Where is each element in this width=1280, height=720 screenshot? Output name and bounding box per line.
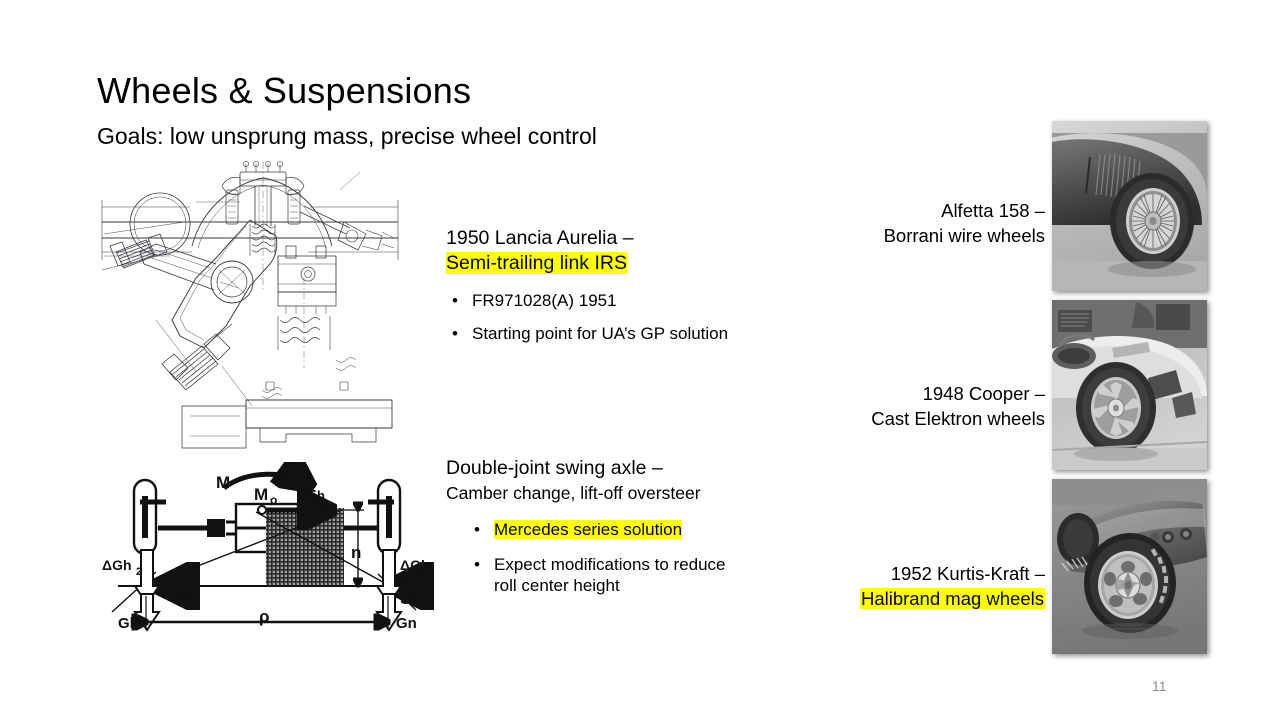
- swing-axle-force-diagram: M M o F h n ΔGh 2 ΔGh 2 S S Gh Gn ρ: [96, 462, 436, 650]
- caption-line-1: 1952 Kurtis-Kraft –: [891, 563, 1045, 584]
- block-subheading-swing-axle: Camber change, lift-off oversteer: [446, 481, 751, 505]
- photo-caption-cooper: 1948 Cooper – Cast Elektron wheels: [780, 381, 1045, 431]
- photo-alfetta-borrani-wire-wheel: [1052, 121, 1207, 291]
- page-subtitle: Goals: low unsprung mass, precise wheel …: [97, 122, 597, 150]
- svg-text:o: o: [270, 493, 277, 507]
- bullet-dot-icon: •: [452, 323, 458, 344]
- slide-canvas: Wheels & Suspensions Goals: low unsprung…: [0, 0, 1280, 720]
- photo-cooper-cast-elektron-wheel: [1052, 300, 1207, 470]
- svg-text:2: 2: [136, 566, 142, 578]
- bullet-dot-icon: •: [452, 290, 458, 311]
- svg-text:Gh: Gh: [118, 615, 139, 632]
- svg-text:ΔGh: ΔGh: [102, 557, 132, 573]
- svg-text:h: h: [317, 488, 325, 503]
- caption-line-1: 1948 Cooper –: [923, 383, 1045, 404]
- caption-line-2: Cast Elektron wheels: [871, 408, 1045, 429]
- bullet-dot-icon: •: [474, 519, 480, 540]
- heading-line-2-highlighted: Semi-trailing link IRS: [446, 252, 627, 274]
- page-title: Wheels & Suspensions: [97, 70, 471, 112]
- list-item-label: FR971028(A) 1951: [472, 291, 617, 310]
- heading-line-1: 1950 Lancia Aurelia –: [446, 227, 634, 249]
- svg-text:S: S: [178, 589, 189, 608]
- list-item-label-highlighted: Mercedes series solution: [494, 520, 682, 539]
- svg-text:S: S: [400, 589, 411, 608]
- list-item: • Mercedes series solution: [468, 519, 751, 540]
- svg-text:M: M: [216, 473, 230, 492]
- caption-line-2: Borrani wire wheels: [884, 225, 1045, 246]
- bullet-list-swing-axle: • Mercedes series solution • Expect modi…: [468, 519, 751, 596]
- caption-line-2-highlighted: Halibrand mag wheels: [860, 588, 1045, 609]
- bullet-list-lancia: • FR971028(A) 1951 • Starting point for …: [446, 290, 746, 344]
- photo-kurtis-halibrand-mag-wheel: [1052, 479, 1207, 654]
- svg-text:Gn: Gn: [396, 615, 417, 632]
- svg-text:ΔGh: ΔGh: [400, 557, 430, 573]
- svg-text:F: F: [306, 481, 316, 500]
- list-item: • Expect modifications to reduce roll ce…: [468, 554, 751, 596]
- svg-text:2: 2: [400, 573, 406, 585]
- irs-suspension-drawing: [100, 160, 400, 452]
- list-item-label: Starting point for UA’s GP solution: [472, 324, 728, 343]
- svg-text:M: M: [254, 485, 268, 504]
- slide-number: 11: [1152, 677, 1167, 695]
- bullet-dot-icon: •: [474, 554, 480, 575]
- block-heading-lancia: 1950 Lancia Aurelia – Semi-trailing link…: [446, 226, 746, 276]
- svg-text:ρ: ρ: [259, 607, 270, 626]
- block-heading-swing-axle: Double-joint swing axle –: [446, 456, 751, 481]
- content-block-swing-axle: Double-joint swing axle – Camber change,…: [446, 456, 751, 596]
- list-item: • FR971028(A) 1951: [446, 290, 746, 311]
- heading-line-1: Double-joint swing axle –: [446, 457, 663, 479]
- caption-line-1: Alfetta 158 –: [941, 200, 1045, 221]
- svg-text:n: n: [351, 543, 361, 562]
- content-block-lancia: 1950 Lancia Aurelia – Semi-trailing link…: [446, 226, 746, 344]
- list-item: • Starting point for UA’s GP solution: [446, 323, 746, 344]
- list-item-label: Expect modifications to reduce roll cent…: [494, 555, 726, 595]
- photo-caption-alfetta: Alfetta 158 – Borrani wire wheels: [780, 198, 1045, 248]
- photo-caption-kurtis: 1952 Kurtis-Kraft – Halibrand mag wheels: [780, 561, 1045, 611]
